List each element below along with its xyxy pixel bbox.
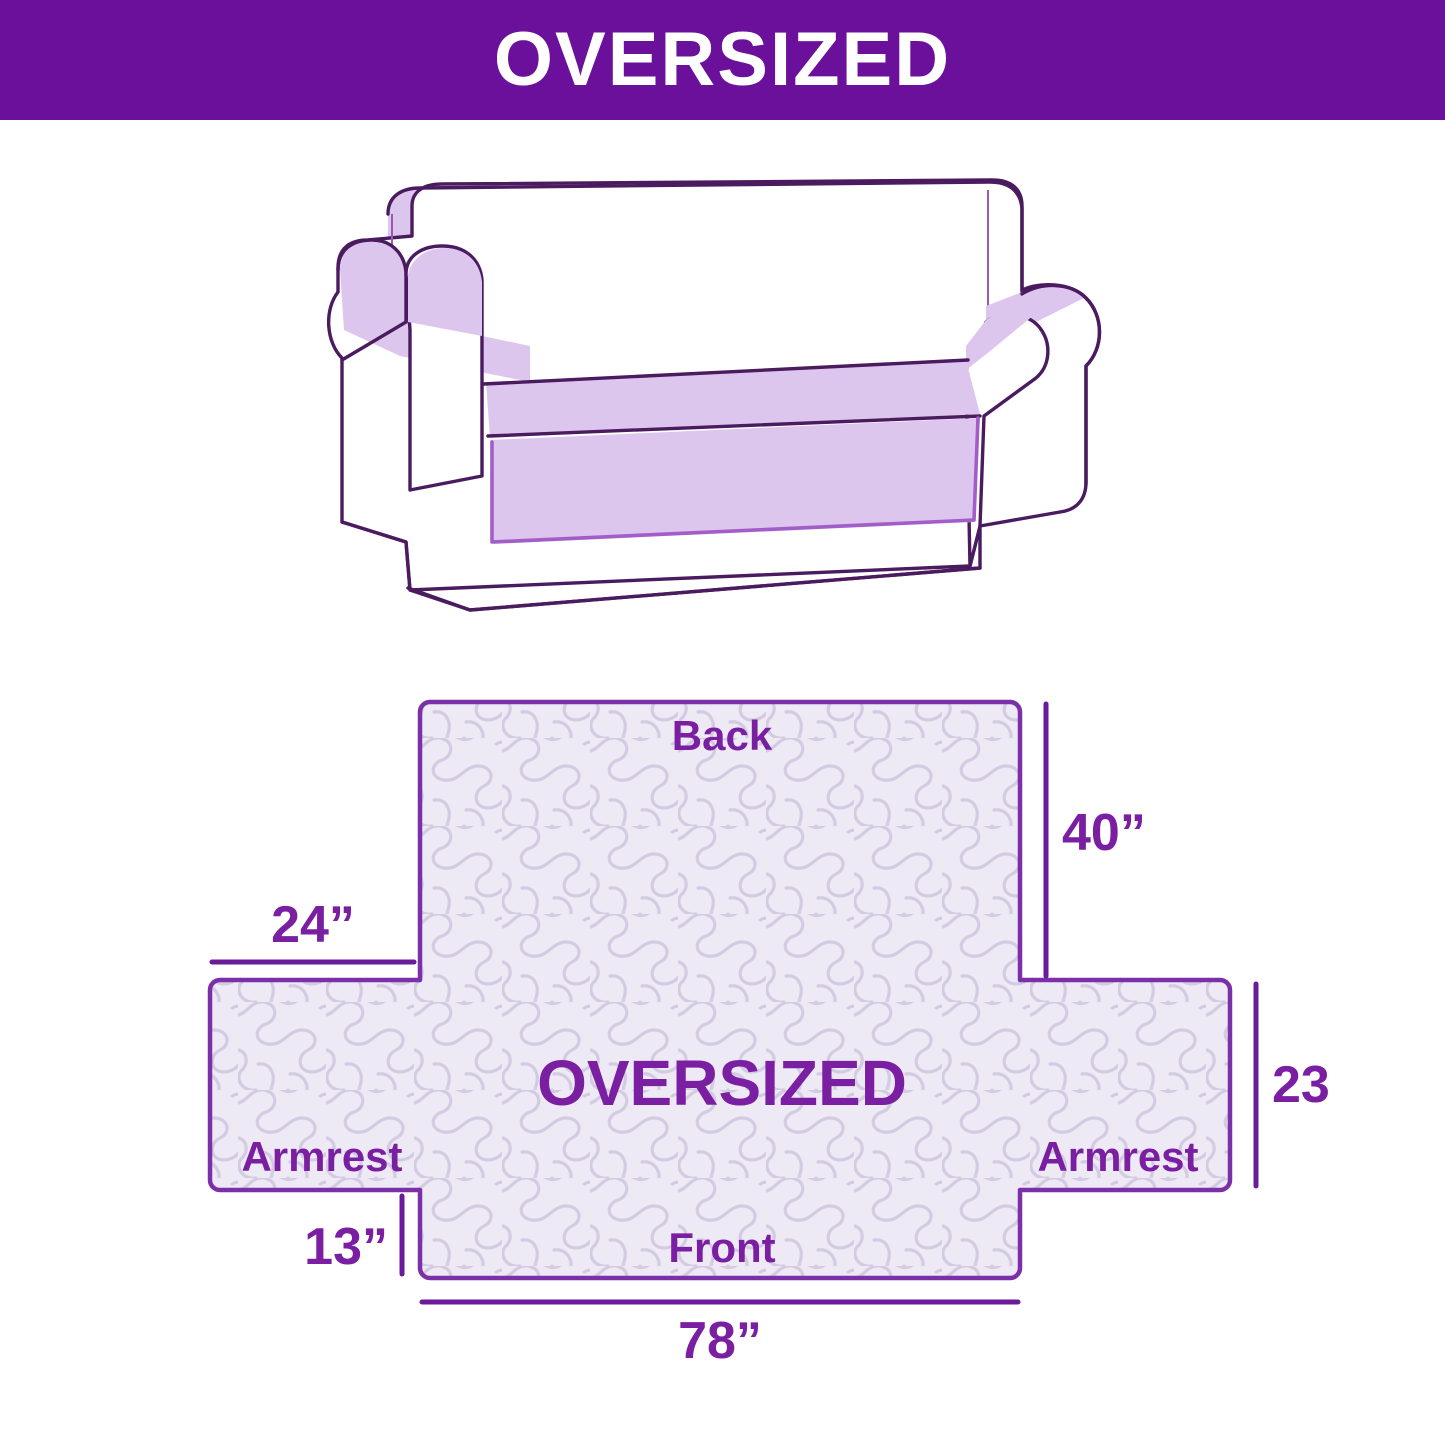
sofa-illustration xyxy=(280,170,1180,630)
banner-title: OVERSIZED xyxy=(494,22,951,98)
dimension-label-24: 24” xyxy=(271,896,355,954)
product-size-infographic: OVERSIZED xyxy=(0,0,1445,1445)
dimension-label-13: 13” xyxy=(304,1218,388,1276)
label-armrest-left: Armrest xyxy=(241,1133,402,1180)
sofa-group xyxy=(329,180,1100,610)
dimension-label-40: 40” xyxy=(1062,804,1146,862)
label-back: Back xyxy=(672,712,773,759)
dimension-label-23: 23” xyxy=(1272,1056,1330,1114)
diagram-center-title: OVERSIZED xyxy=(537,1047,907,1119)
sofa-left-inner-panel xyxy=(408,248,482,336)
cover-outline-shape xyxy=(210,702,1230,1278)
header-banner: OVERSIZED xyxy=(0,0,1445,120)
label-armrest-right: Armrest xyxy=(1037,1133,1198,1180)
cover-shape-group xyxy=(210,702,1230,1278)
dimension-label-78: 78” xyxy=(678,1312,762,1370)
label-front: Front xyxy=(668,1224,775,1271)
dimension-diagram: 40” 23” 24” 13” 78” Back Front Armrest A… xyxy=(150,650,1330,1370)
